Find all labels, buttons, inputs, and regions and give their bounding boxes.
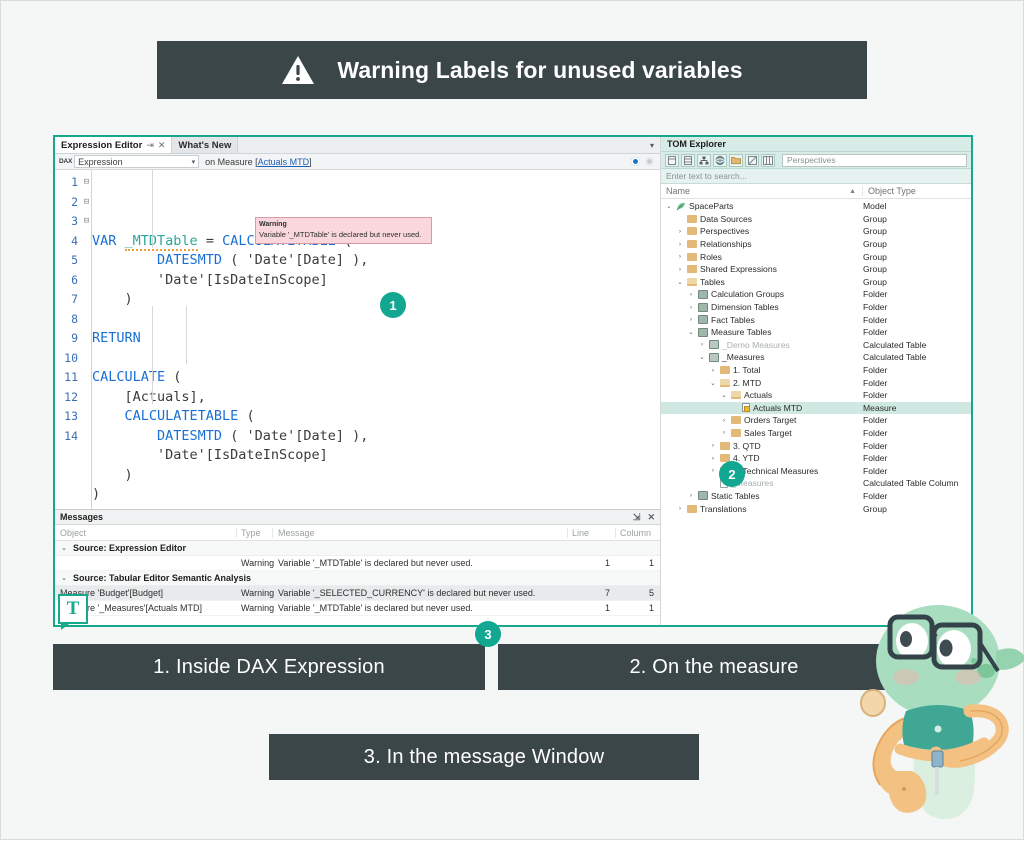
- code-token: _MTDTable: [125, 233, 198, 251]
- folder-icon: [687, 215, 697, 223]
- tree-item-label: Orders Target: [744, 415, 796, 425]
- code-line: CALCULATE (: [92, 368, 660, 388]
- code-token: (: [222, 428, 246, 444]
- tree-item-name-cell: ⌄2. MTD: [661, 378, 863, 388]
- data-source-icon[interactable]: [713, 154, 727, 167]
- col-header-line[interactable]: Line: [568, 528, 616, 538]
- tree-item[interactable]: ⌄ActualsFolder: [661, 389, 971, 402]
- tree-item-label: Data Sources: [700, 214, 752, 224]
- mascot-illustration: [846, 599, 1024, 841]
- line-number: 6: [55, 271, 81, 291]
- code-token: =: [198, 233, 222, 249]
- tab-expression-editor[interactable]: Expression Editor ⇥ ✕: [55, 137, 172, 153]
- col-header-object[interactable]: Object: [55, 528, 237, 538]
- chevron-right-icon[interactable]: ›: [698, 341, 706, 348]
- tree-item[interactable]: ›9. Technical MeasuresFolder: [661, 464, 971, 477]
- code-token: (: [222, 252, 246, 268]
- page-title: Warning Labels for unused variables: [337, 57, 742, 84]
- tree-item-name-cell: ›Orders Target: [661, 415, 863, 425]
- chevron-right-icon[interactable]: ›: [676, 505, 684, 512]
- tree-item-label: Fact Tables: [711, 315, 755, 325]
- tree-item-object-type: Folder: [863, 491, 971, 501]
- tree-item[interactable]: ›Dimension TablesFolder: [661, 301, 971, 314]
- tree-item-object-type: Folder: [863, 390, 971, 400]
- calculated-table-icon: [709, 340, 719, 349]
- line-number: 1: [55, 173, 81, 193]
- tree-item[interactable]: ›PerspectivesGroup: [661, 225, 971, 238]
- tree-item-object-type: Folder: [863, 415, 971, 425]
- tree-item-label: Shared Expressions: [700, 264, 777, 274]
- tree-item[interactable]: ›4. YTDFolder: [661, 452, 971, 465]
- measure-link[interactable]: Actuals MTD: [258, 157, 310, 167]
- tree-item-label: Static Tables: [711, 491, 760, 501]
- measure-icon: [742, 403, 750, 412]
- code-token: [Actuals]: [125, 389, 198, 405]
- cancel-icon[interactable]: [645, 157, 654, 166]
- tabstrip-overflow-icon[interactable]: ▾: [644, 137, 660, 153]
- tree-item[interactable]: ›1. TotalFolder: [661, 364, 971, 377]
- tab-whats-new-label: What's New: [178, 140, 231, 151]
- tree-item-object-type: Folder: [863, 453, 971, 463]
- accept-icon[interactable]: [631, 157, 640, 166]
- indent-guide: [152, 306, 153, 404]
- tree-item-object-type: Folder: [863, 378, 971, 388]
- table-row[interactable]: WarningVariable '_MTDTable' is declared …: [55, 556, 660, 571]
- tree-item-name-cell: ›Shared Expressions: [661, 264, 863, 274]
- perspectives-placeholder: Perspectives: [787, 155, 836, 165]
- code-token: VAR: [92, 233, 116, 249]
- pin-icon[interactable]: ⇲: [633, 512, 641, 523]
- chevron-down-icon: ▾: [192, 158, 196, 166]
- chevron-right-icon[interactable]: ›: [709, 455, 717, 462]
- tree-item[interactable]: ›_Demo MeasuresCalculated Table: [661, 339, 971, 352]
- tom-search-input[interactable]: Enter text to search...: [661, 169, 971, 184]
- col-header-type[interactable]: Type: [237, 528, 273, 538]
- messages-group-header[interactable]: ⌄Source: Tabular Editor Semantic Analysi…: [55, 571, 660, 586]
- on-measure-prefix: on Measure [: [205, 157, 258, 167]
- tree-item-name-cell: ›Dimension Tables: [661, 302, 863, 312]
- tree-item-label: Translations: [700, 504, 747, 514]
- tree-item-label: 9. Technical Measures: [733, 466, 818, 476]
- chevron-down-icon[interactable]: ⌄: [60, 574, 68, 582]
- code-token: ): [92, 486, 100, 502]
- chevron-right-icon[interactable]: ›: [676, 253, 684, 260]
- tree-item-name-cell: ·Data Sources: [661, 214, 863, 224]
- code-token: [92, 428, 157, 444]
- messages-group-header[interactable]: ⌄Source: Expression Editor: [55, 541, 660, 556]
- message-text: Variable '_MTDTable' is declared but nev…: [273, 558, 568, 568]
- folder-open-icon: [731, 391, 741, 399]
- folder-icon: [720, 442, 730, 450]
- chevron-right-icon[interactable]: ›: [676, 228, 684, 235]
- tree-item-object-type: Folder: [863, 365, 971, 375]
- code-token: (: [238, 408, 254, 424]
- tree-item-name-cell: ›Relationships: [661, 239, 863, 249]
- tree-item[interactable]: ›TranslationsGroup: [661, 502, 971, 515]
- inline-warning-title: Warning: [259, 220, 428, 230]
- chevron-right-icon[interactable]: ›: [687, 316, 695, 323]
- tom-column-headers: Name ▲ Object Type: [661, 184, 971, 199]
- table-icon: [698, 328, 708, 337]
- sort-asc-icon: ▲: [849, 188, 856, 195]
- expression-kind-value: Expression: [78, 157, 123, 167]
- code-line: 'Date'[IsDateInScope]: [92, 271, 660, 291]
- tree-item-object-type: Folder: [863, 289, 971, 299]
- code-token: [92, 252, 157, 268]
- tree-item-name-cell: ⌄_Measures: [661, 352, 863, 362]
- callout-badge-3: 3: [475, 621, 501, 647]
- col-header-name[interactable]: Name ▲: [661, 186, 863, 196]
- tabular-editor-logo: T: [58, 594, 88, 624]
- tree-item-object-type: Group: [863, 214, 971, 224]
- chevron-right-icon[interactable]: ›: [709, 442, 717, 449]
- code-token: 'Date'[Date]: [246, 252, 344, 268]
- tom-search-placeholder: Enter text to search...: [666, 171, 747, 181]
- messages-header: Messages ⇲ ✕: [55, 510, 660, 525]
- column-icon[interactable]: [681, 154, 695, 167]
- tree-item-label: Relationships: [700, 239, 752, 249]
- tree-item-label: 1. Total: [733, 365, 761, 375]
- tree-item[interactable]: ·_MeasuresCalculated Table Column: [661, 477, 971, 490]
- indent-guide: [186, 306, 187, 364]
- table-icon: [698, 303, 708, 312]
- table-icon: [698, 290, 708, 299]
- code-token: [92, 447, 157, 463]
- folder-icon: [731, 416, 741, 424]
- on-measure-label: on Measure [Actuals MTD]: [205, 157, 312, 167]
- tree-item[interactable]: ›Sales TargetFolder: [661, 427, 971, 440]
- messages-title: Messages: [60, 512, 103, 522]
- message-type: Warning: [237, 603, 273, 613]
- message-line: 1: [568, 603, 616, 613]
- tree-item-label: Perspectives: [700, 226, 749, 236]
- caption-1: 1. Inside DAX Expression: [53, 644, 485, 690]
- dax-icon: DAX: [55, 158, 74, 165]
- line-number: 4: [55, 232, 81, 252]
- table-icon: [698, 315, 708, 324]
- indent-guide: [152, 170, 153, 248]
- expression-kind-select[interactable]: Expression ▾: [74, 155, 199, 168]
- code-token: [92, 389, 125, 405]
- dax-code-area[interactable]: 1234567891011121314 ⊟⊟⊟ VAR _MTDTable = …: [55, 170, 660, 509]
- folder-icon: [720, 366, 730, 374]
- code-line: [Actuals],: [92, 388, 660, 408]
- partition-icon[interactable]: [761, 154, 775, 167]
- tree-item-object-type: Group: [863, 504, 971, 514]
- chevron-right-icon[interactable]: ›: [687, 304, 695, 311]
- tree-item[interactable]: ⌄TablesGroup: [661, 276, 971, 289]
- close-icon[interactable]: ✕: [647, 512, 655, 523]
- expression-toolbar-actions: [631, 157, 660, 166]
- folder-icon: [687, 240, 697, 248]
- chevron-right-icon[interactable]: ›: [720, 417, 728, 424]
- tree-spacer: ·: [731, 404, 739, 411]
- code-line: [92, 349, 660, 369]
- code-token: 'Date'[IsDateInScope]: [157, 272, 328, 288]
- tree-item-name-cell: ·Actuals MTD: [661, 403, 863, 413]
- line-number: 2: [55, 193, 81, 213]
- folder-open-icon: [720, 379, 730, 387]
- line-number: 3: [55, 212, 81, 232]
- inline-warning-text: Variable '_MTDTable' is declared but nev…: [259, 230, 428, 240]
- folder-icon[interactable]: [729, 154, 743, 167]
- code-token: [116, 233, 124, 249]
- tree-item-name-cell: ›Sales Target: [661, 428, 863, 438]
- tree-item-name-cell: ›Static Tables: [661, 491, 863, 501]
- tree-item-name-cell: ⌄SpaceParts: [661, 201, 863, 211]
- tree-item-object-type: Calculated Table Column: [863, 478, 971, 488]
- code-line: DATESMTD ( 'Date'[Date] ),: [92, 427, 660, 447]
- code-token: DATESMTD: [157, 252, 222, 268]
- tree-item[interactable]: ›Shared ExpressionsGroup: [661, 263, 971, 276]
- folder-icon: [687, 227, 697, 235]
- message-column: 1: [616, 603, 660, 613]
- tree-item-label: _Demo Measures: [722, 340, 790, 350]
- line-number-gutter: 1234567891011121314: [55, 170, 81, 509]
- messages-group-label: Source: Tabular Editor Semantic Analysis: [73, 573, 251, 583]
- line-number: 11: [55, 368, 81, 388]
- code-token: 'Date'[IsDateInScope]: [157, 447, 328, 463]
- tree-item[interactable]: ›Orders TargetFolder: [661, 414, 971, 427]
- calculated-table-icon: [709, 353, 719, 362]
- line-number: 8: [55, 310, 81, 330]
- tree-item[interactable]: ›Fact TablesFolder: [661, 313, 971, 326]
- tree-item-object-type: Folder: [863, 466, 971, 476]
- tree-item-object-type: Calculated Table: [863, 340, 971, 350]
- tree-item[interactable]: ·Data SourcesGroup: [661, 213, 971, 226]
- code-token: CALCULATE: [92, 369, 165, 385]
- chevron-right-icon[interactable]: ›: [676, 241, 684, 248]
- tree-item-name-cell: ›Roles: [661, 252, 863, 262]
- chevron-right-icon[interactable]: ›: [720, 429, 728, 436]
- tree-item-label: _Measures: [722, 352, 765, 362]
- chevron-right-icon[interactable]: ›: [687, 492, 695, 499]
- tree-item-name-cell: ›Translations: [661, 504, 863, 514]
- tree-item-label: 2. MTD: [733, 378, 761, 388]
- chevron-down-icon[interactable]: ⌄: [687, 328, 695, 336]
- close-icon[interactable]: ✕: [158, 140, 166, 151]
- code-token: [92, 272, 157, 288]
- col-header-column[interactable]: Column: [616, 528, 660, 538]
- tree-item-label: Roles: [700, 252, 722, 262]
- line-number: 14: [55, 427, 81, 447]
- tree-item-label: Measure Tables: [711, 327, 772, 337]
- tree-spacer: ·: [676, 215, 684, 222]
- chevron-right-icon[interactable]: ›: [709, 367, 717, 374]
- tree-item-name-cell: ›Fact Tables: [661, 315, 863, 325]
- tree-item-object-type: Model: [863, 201, 971, 211]
- tab-whats-new[interactable]: What's New: [172, 137, 238, 153]
- code-token: ): [92, 467, 133, 483]
- code-line: DATESMTD ( 'Date'[Date] ),: [92, 251, 660, 271]
- col-header-object-type[interactable]: Object Type: [863, 186, 971, 196]
- tree-item[interactable]: ›RelationshipsGroup: [661, 238, 971, 251]
- folder-icon: [687, 505, 697, 513]
- chevron-down-icon[interactable]: ⌄: [60, 544, 68, 552]
- model-icon: [676, 202, 686, 211]
- message-text: Variable '_SELECTED_CURRENCY' is declare…: [273, 588, 568, 598]
- tree-item-object-type: Measure: [863, 403, 971, 413]
- tree-item-name-cell: ·_Measures: [661, 478, 863, 488]
- code-line: ): [92, 485, 660, 505]
- message-text: Variable '_MTDTable' is declared but nev…: [273, 603, 568, 613]
- tree-spacer: ·: [709, 480, 717, 487]
- line-number: 13: [55, 407, 81, 427]
- folder-icon: [731, 429, 741, 437]
- expression-toolbar: DAX Expression ▾ on Measure [Actuals MTD…: [55, 154, 660, 170]
- message-column: 5: [616, 588, 660, 598]
- chevron-down-icon[interactable]: ⌄: [676, 278, 684, 286]
- col-header-name-label: Name: [666, 186, 690, 196]
- tom-explorer-title: TOM Explorer: [661, 137, 971, 152]
- chevron-down-icon[interactable]: ⌄: [665, 202, 673, 210]
- editor-tabstrip: Expression Editor ⇥ ✕ What's New ▾: [55, 137, 660, 154]
- tree-item-label: Actuals: [744, 390, 772, 400]
- app-screenshot: Expression Editor ⇥ ✕ What's New ▾ DAX E…: [53, 135, 973, 627]
- line-number: 7: [55, 290, 81, 310]
- message-column: 1: [616, 558, 660, 568]
- pin-icon[interactable]: ⇥: [146, 140, 154, 151]
- tree-item-label: Dimension Tables: [711, 302, 779, 312]
- col-header-message[interactable]: Message: [273, 528, 568, 538]
- callout-badge-1: 1: [380, 292, 406, 318]
- tree-item[interactable]: ⌄Measure TablesFolder: [661, 326, 971, 339]
- folder-open-icon: [687, 278, 697, 286]
- chevron-right-icon[interactable]: ›: [709, 467, 717, 474]
- line-number: 12: [55, 388, 81, 408]
- poster-root: Warning Labels for unused variables Expr…: [0, 0, 1024, 840]
- tree-item-label: 3. QTD: [733, 441, 761, 451]
- editor-pane: Expression Editor ⇥ ✕ What's New ▾ DAX E…: [55, 137, 661, 625]
- code-token: ),: [344, 428, 368, 444]
- perspectives-select[interactable]: Perspectives: [782, 154, 967, 167]
- code-line: 'Date'[IsDateInScope]: [92, 446, 660, 466]
- tom-explorer-pane: TOM Explorer: [661, 137, 971, 625]
- tree-item-name-cell: ›Calculation Groups: [661, 289, 863, 299]
- tree-item-object-type: Group: [863, 264, 971, 274]
- tree-item-object-type: Folder: [863, 315, 971, 325]
- tree-item-name-cell: ›1. Total: [661, 365, 863, 375]
- message-type: Warning: [237, 558, 273, 568]
- messages-group-label: Source: Expression Editor: [73, 543, 186, 553]
- messages-body: 3 ⌄Source: Expression EditorWarningVaria…: [55, 541, 660, 616]
- messages-column-headers: Object Type Message Line Column: [55, 525, 660, 541]
- tree-item-object-type: Folder: [863, 327, 971, 337]
- tree-item-name-cell: ›9. Technical Measures: [661, 466, 863, 476]
- chevron-down-icon[interactable]: ⌄: [709, 379, 717, 387]
- warning-triangle-icon: [281, 55, 315, 85]
- code-line: ): [92, 466, 660, 486]
- table-row[interactable]: Measure 'Budget'[Budget]WarningVariable …: [55, 586, 660, 601]
- tree-item[interactable]: ›3. QTDFolder: [661, 439, 971, 452]
- messages-header-actions: ⇲ ✕: [633, 512, 655, 523]
- tree-item-object-type: Group: [863, 226, 971, 236]
- code-token: [92, 408, 125, 424]
- title-banner: Warning Labels for unused variables: [157, 41, 867, 99]
- message-line: 1: [568, 558, 616, 568]
- tree-item-label: Calculation Groups: [711, 289, 784, 299]
- tree-item-label: Actuals MTD: [753, 403, 802, 413]
- chevron-down-icon[interactable]: ⌄: [720, 391, 728, 399]
- measure-icon[interactable]: [745, 154, 759, 167]
- code-token: 'Date'[Date]: [246, 428, 344, 444]
- tree-item-object-type: Folder: [863, 428, 971, 438]
- tree-item-label: Tables: [700, 277, 725, 287]
- tree-item-name-cell: ›_Demo Measures: [661, 340, 863, 350]
- tree-item-object-type: Folder: [863, 441, 971, 451]
- code-token: ),: [344, 252, 368, 268]
- code-line: ): [92, 290, 660, 310]
- chevron-right-icon[interactable]: ›: [676, 266, 684, 273]
- tom-tree[interactable]: 2 ⌄SpacePartsModel·Data SourcesGroup›Per…: [661, 199, 971, 625]
- code-token: CALCULATETABLE: [125, 408, 239, 424]
- tree-item-name-cell: ⌄Tables: [661, 277, 863, 287]
- message-type: Warning: [237, 588, 273, 598]
- tree-item-object-type: Folder: [863, 302, 971, 312]
- tree-item-object-type: Group: [863, 277, 971, 287]
- tom-explorer-toolbar: Perspectives: [661, 152, 971, 169]
- tree-item[interactable]: ›Static TablesFolder: [661, 490, 971, 503]
- tree-item[interactable]: ⌄2. MTDFolder: [661, 376, 971, 389]
- caption-3: 3. In the message Window: [269, 734, 699, 780]
- tree-item-label: Sales Target: [744, 428, 792, 438]
- table-icon: [698, 491, 708, 500]
- tree-item-label: SpaceParts: [689, 201, 733, 211]
- tree-item[interactable]: ⌄_MeasuresCalculated Table: [661, 351, 971, 364]
- chevron-down-icon[interactable]: ⌄: [698, 353, 706, 361]
- tree-item[interactable]: ›RolesGroup: [661, 250, 971, 263]
- callout-badge-2: 2: [719, 461, 745, 487]
- tree-item-name-cell: ⌄Actuals: [661, 390, 863, 400]
- folder-icon: [687, 253, 697, 261]
- tree-item-name-cell: ›4. YTD: [661, 453, 863, 463]
- code-line: RETURN: [92, 329, 660, 349]
- table-icon[interactable]: [665, 154, 679, 167]
- code-token: ,: [198, 389, 206, 405]
- code-token: ): [92, 291, 133, 307]
- tree-item-object-type: Group: [863, 239, 971, 249]
- chevron-right-icon[interactable]: ›: [687, 291, 695, 298]
- line-number: 9: [55, 329, 81, 349]
- tab-expression-editor-label: Expression Editor: [61, 140, 142, 151]
- folder-icon: [687, 265, 697, 273]
- tree-item-object-type: Group: [863, 252, 971, 262]
- on-measure-suffix: ]: [309, 157, 312, 167]
- tree-item[interactable]: ⌄SpacePartsModel: [661, 200, 971, 213]
- line-number: 10: [55, 349, 81, 369]
- code-line: CALCULATETABLE (: [92, 407, 660, 427]
- code-line: [92, 310, 660, 330]
- code-token: DATESMTD: [157, 428, 222, 444]
- tree-item-name-cell: ⌄Measure Tables: [661, 327, 863, 337]
- code-token: (: [165, 369, 181, 385]
- tree-item-object-type: Calculated Table: [863, 352, 971, 362]
- inline-warning-tooltip: Warning Variable '_MTDTable' is declared…: [255, 217, 432, 244]
- tree-item[interactable]: ›Calculation GroupsFolder: [661, 288, 971, 301]
- tree-item-name-cell: ›Perspectives: [661, 226, 863, 236]
- message-line: 7: [568, 588, 616, 598]
- hierarchy-icon[interactable]: [697, 154, 711, 167]
- tree-item-name-cell: ›3. QTD: [661, 441, 863, 451]
- table-row[interactable]: Measure '_Measures'[Actuals MTD]WarningV…: [55, 601, 660, 616]
- tree-item[interactable]: ·Actuals MTDMeasure: [661, 402, 971, 415]
- line-number: 5: [55, 251, 81, 271]
- messages-panel: Messages ⇲ ✕ Object Type Message Line Co…: [55, 509, 660, 625]
- code-token: RETURN: [92, 330, 141, 346]
